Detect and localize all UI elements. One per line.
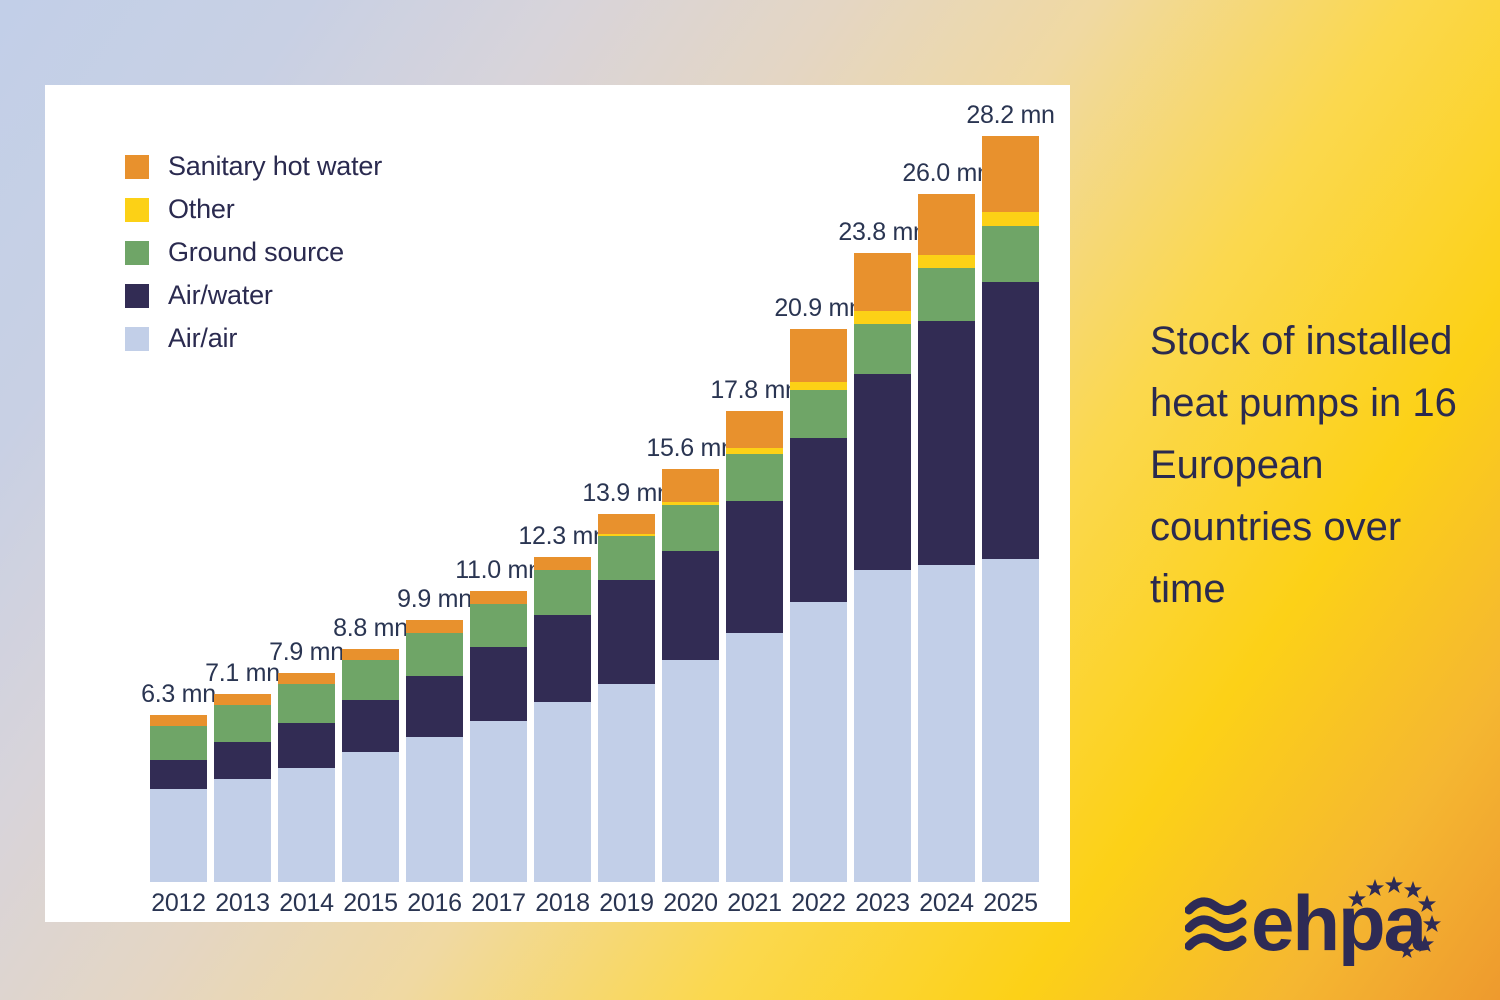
ehpa-logo: ehpa: [1185, 868, 1450, 968]
legend-item[interactable]: Ground source: [125, 231, 382, 274]
bar-segment-air-water[interactable]: [406, 676, 463, 737]
x-axis-tick-label: 2025: [983, 889, 1037, 918]
bar-segment-sanitary-hot-water[interactable]: [470, 591, 527, 604]
bar-segment-air-air[interactable]: [214, 779, 271, 882]
legend-swatch: [125, 155, 149, 179]
legend-swatch: [125, 241, 149, 265]
bar-stack[interactable]: 11.0 mn2017: [470, 591, 527, 882]
bar-stack[interactable]: 20.9 mn2022: [790, 329, 847, 882]
bar-segment-air-air[interactable]: [662, 660, 719, 882]
bar-segment-other[interactable]: [790, 382, 847, 390]
bar-segment-sanitary-hot-water[interactable]: [534, 557, 591, 570]
bar-segment-ground-source[interactable]: [278, 684, 335, 724]
bar-segment-ground-source[interactable]: [918, 268, 975, 321]
legend-item[interactable]: Air/water: [125, 274, 382, 317]
logo-wordmark: ehpa: [1251, 879, 1428, 967]
bar-stack[interactable]: 7.1 mn2013: [214, 694, 271, 882]
bar-segment-air-water[interactable]: [598, 580, 655, 683]
bar-total-label: 26.0 mn: [902, 159, 990, 188]
bar-segment-air-air[interactable]: [726, 633, 783, 882]
bar-segment-ground-source[interactable]: [854, 324, 911, 374]
bar-segment-air-water[interactable]: [982, 282, 1039, 560]
bar-total-label: 20.9 mn: [774, 294, 862, 323]
bar-segment-air-water[interactable]: [662, 551, 719, 659]
bar-segment-air-air[interactable]: [790, 602, 847, 882]
page-title: Stock of installed heat pumps in 16 Euro…: [1150, 310, 1470, 620]
x-axis-tick-label: 2021: [727, 889, 781, 918]
bar-segment-air-air[interactable]: [470, 721, 527, 882]
legend-item-label: Sanitary hot water: [168, 151, 382, 182]
x-axis-tick-label: 2013: [215, 889, 269, 918]
bar-segment-other[interactable]: [982, 212, 1039, 227]
bar-segment-air-water[interactable]: [214, 742, 271, 779]
bar-segment-sanitary-hot-water[interactable]: [854, 253, 911, 311]
legend-item-label: Ground source: [168, 237, 344, 268]
bar-segment-air-air[interactable]: [342, 752, 399, 882]
bar-stack[interactable]: 23.8 mn2023: [854, 253, 911, 882]
x-axis-tick-label: 2018: [535, 889, 589, 918]
bar-segment-air-water[interactable]: [790, 438, 847, 602]
waves-icon: [1189, 902, 1242, 947]
x-axis-tick-label: 2020: [663, 889, 717, 918]
x-axis-tick-label: 2016: [407, 889, 461, 918]
bar-stack[interactable]: 8.8 mn2015: [342, 649, 399, 882]
legend-item-label: Air/water: [168, 280, 273, 311]
bar-segment-sanitary-hot-water[interactable]: [150, 715, 207, 726]
bar-segment-sanitary-hot-water[interactable]: [918, 194, 975, 255]
bar-segment-ground-source[interactable]: [534, 570, 591, 615]
bar-total-label: 12.3 mn: [518, 522, 606, 551]
bar-segment-air-water[interactable]: [150, 760, 207, 789]
bar-stack[interactable]: 26.0 mn2024: [918, 194, 975, 882]
bar-segment-air-water[interactable]: [470, 647, 527, 721]
bar-stack[interactable]: 12.3 mn2018: [534, 557, 591, 882]
bar-segment-air-water[interactable]: [854, 374, 911, 570]
bar-total-label: 23.8 mn: [838, 218, 926, 247]
bar-segment-sanitary-hot-water[interactable]: [982, 136, 1039, 211]
bar-segment-air-air[interactable]: [982, 559, 1039, 882]
bar-total-label: 17.8 mn: [710, 376, 798, 405]
bar-segment-air-air[interactable]: [534, 702, 591, 882]
x-axis-tick-label: 2012: [151, 889, 205, 918]
bar-stack[interactable]: 6.3 mn2012: [150, 715, 207, 882]
bar-segment-air-water[interactable]: [278, 723, 335, 768]
bar-segment-air-water[interactable]: [726, 501, 783, 633]
legend-swatch: [125, 327, 149, 351]
bar-total-label: 13.9 mn: [582, 479, 670, 508]
bar-segment-ground-source[interactable]: [470, 604, 527, 646]
bar-segment-sanitary-hot-water[interactable]: [598, 514, 655, 534]
legend-swatch: [125, 198, 149, 222]
x-axis-tick-label: 2023: [855, 889, 909, 918]
chart-panel: 6.3 mn20127.1 mn20137.9 mn20148.8 mn2015…: [45, 85, 1070, 922]
bar-stack[interactable]: 28.2 mn2025: [982, 136, 1039, 882]
bar-segment-other[interactable]: [854, 311, 911, 324]
bar-segment-ground-source[interactable]: [982, 226, 1039, 282]
chart-legend: Sanitary hot waterOtherGround sourceAir/…: [125, 145, 382, 360]
bar-segment-sanitary-hot-water[interactable]: [662, 469, 719, 502]
x-axis-tick-label: 2019: [599, 889, 653, 918]
bar-total-label: 9.9 mn: [397, 585, 472, 614]
bar-segment-other[interactable]: [918, 255, 975, 268]
bar-total-label: 11.0 mn: [455, 556, 541, 585]
x-axis-tick-label: 2022: [791, 889, 845, 918]
legend-item-label: Air/air: [168, 323, 237, 354]
bar-stack[interactable]: 13.9 mn2019: [598, 514, 655, 882]
bar-segment-air-water[interactable]: [342, 700, 399, 753]
bar-segment-sanitary-hot-water[interactable]: [342, 649, 399, 660]
bar-segment-sanitary-hot-water[interactable]: [726, 411, 783, 448]
bar-segment-air-air[interactable]: [406, 737, 463, 882]
bar-segment-ground-source[interactable]: [342, 660, 399, 700]
bar-segment-air-water[interactable]: [918, 321, 975, 564]
bar-total-label: 15.6 mn: [646, 434, 734, 463]
bar-segment-ground-source[interactable]: [150, 726, 207, 760]
bar-segment-ground-source[interactable]: [662, 505, 719, 551]
bar-segment-air-air[interactable]: [278, 768, 335, 882]
bar-total-label: 28.2 mn: [966, 101, 1054, 130]
x-axis-tick-label: 2017: [471, 889, 525, 918]
bar-segment-ground-source[interactable]: [790, 390, 847, 438]
bar-segment-ground-source[interactable]: [598, 536, 655, 581]
bar-segment-air-air[interactable]: [598, 684, 655, 882]
bar-stack[interactable]: 9.9 mn2016: [406, 620, 463, 882]
bar-segment-air-water[interactable]: [534, 615, 591, 702]
bar-stack[interactable]: 7.9 mn2014: [278, 673, 335, 882]
bar-segment-ground-source[interactable]: [214, 705, 271, 742]
legend-item[interactable]: Sanitary hot water: [125, 145, 382, 188]
x-axis-tick-label: 2014: [279, 889, 333, 918]
bar-segment-sanitary-hot-water[interactable]: [214, 694, 271, 705]
legend-item[interactable]: Air/air: [125, 317, 382, 360]
bar-segment-sanitary-hot-water[interactable]: [790, 329, 847, 382]
bar-segment-air-air[interactable]: [854, 570, 911, 882]
bar-segment-air-air[interactable]: [150, 789, 207, 882]
bar-segment-ground-source[interactable]: [726, 454, 783, 502]
bar-segment-ground-source[interactable]: [406, 633, 463, 675]
bar-segment-sanitary-hot-water[interactable]: [278, 673, 335, 684]
x-axis-tick-label: 2024: [919, 889, 973, 918]
bar-stack[interactable]: 15.6 mn2020: [662, 469, 719, 882]
x-axis-tick-label: 2015: [343, 889, 397, 918]
legend-item[interactable]: Other: [125, 188, 382, 231]
bar-segment-air-air[interactable]: [918, 565, 975, 882]
bar-total-label: 8.8 mn: [333, 614, 408, 643]
bar-segment-sanitary-hot-water[interactable]: [406, 620, 463, 633]
legend-swatch: [125, 284, 149, 308]
bar-stack[interactable]: 17.8 mn2021: [726, 411, 783, 882]
legend-item-label: Other: [168, 194, 235, 225]
